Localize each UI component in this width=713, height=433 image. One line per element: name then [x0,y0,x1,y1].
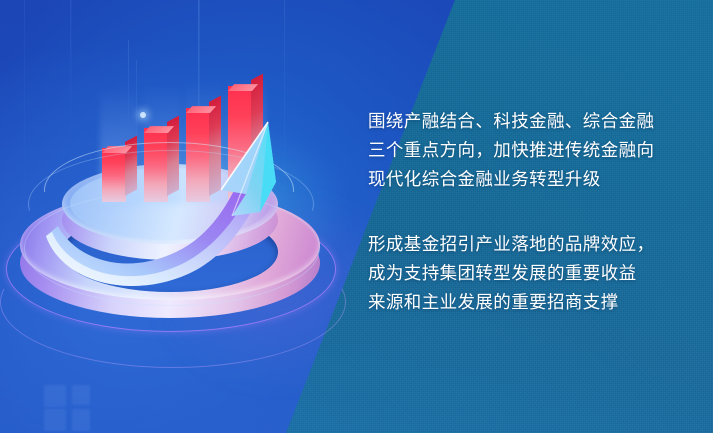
paragraph-2: 形成基金招引产业落地的品牌效应， 成为支持集团转型发展的重要收益 来源和主业发展… [368,230,698,317]
paragraph-1: 围绕产融结合、科技金融、综合金融 三个重点方向，加快推进传统金融向 现代化综合金… [368,107,698,194]
decor-square [44,409,66,431]
decor-square [44,385,66,407]
paragraph-1-line-2: 三个重点方向，加快推进传统金融向 [368,136,698,165]
paragraph-1-line-3: 现代化综合金融业务转型升级 [368,165,698,194]
copy-block: 围绕产融结合、科技金融、综合金融 三个重点方向，加快推进传统金融向 现代化综合金… [368,107,698,317]
decor-square [72,385,90,405]
paragraph-1-line-1: 围绕产融结合、科技金融、综合金融 [368,107,698,136]
growth-arrow-icon [10,86,340,346]
paragraph-2-line-3: 来源和主业发展的重要招商支撑 [368,288,698,317]
growth-chart-illustration [10,86,340,346]
decor-square [72,409,90,431]
paragraph-2-line-2: 成为支持集团转型发展的重要收益 [368,259,698,288]
banner-slide: 围绕产融结合、科技金融、综合金融 三个重点方向，加快推进传统金融向 现代化综合金… [0,0,713,433]
paragraph-2-line-1: 形成基金招引产业落地的品牌效应， [368,230,698,259]
